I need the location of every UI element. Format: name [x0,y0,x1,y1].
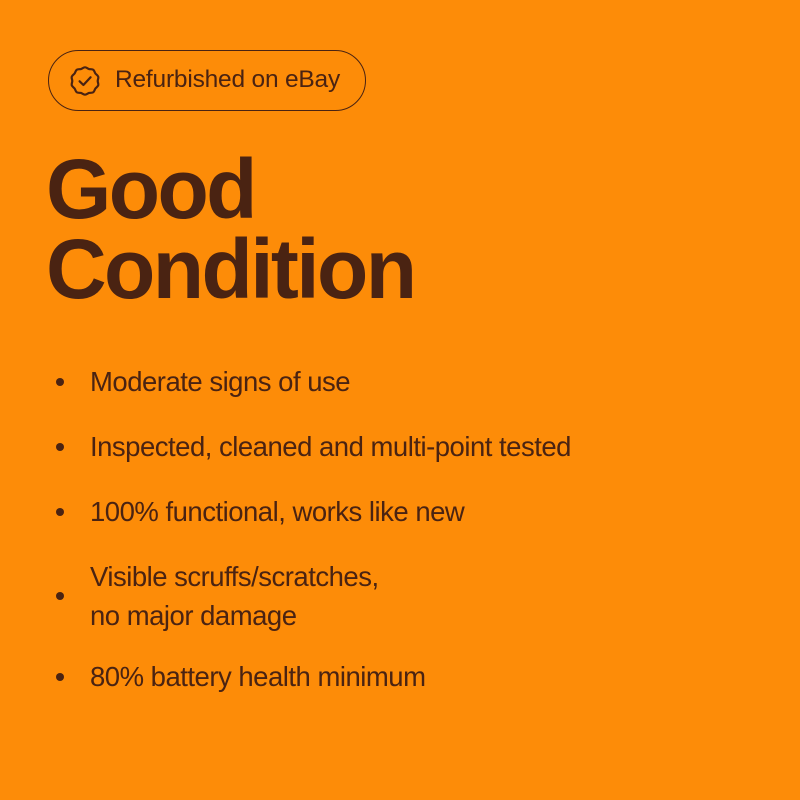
verified-seal-check-icon [69,65,101,97]
list-item: Moderate signs of use [56,362,756,401]
bullet-dot-icon [56,508,64,516]
feature-text: 100% functional, works like new [90,492,464,531]
list-item: 80% battery health minimum [56,657,756,696]
page-title: Good Condition [46,150,414,310]
bullet-dot-icon [56,443,64,451]
feature-text: Visible scruffs/scratches, no major dama… [90,557,379,635]
bullet-dot-icon [56,592,64,600]
refurbished-condition-card: Refurbished on eBay Good Condition Moder… [0,0,800,800]
bullet-dot-icon [56,378,64,386]
list-item: 100% functional, works like new [56,492,756,531]
feature-text: Inspected, cleaned and multi-point teste… [90,427,571,466]
list-item: Inspected, cleaned and multi-point teste… [56,427,756,466]
feature-text: Moderate signs of use [90,362,350,401]
condition-feature-list: Moderate signs of use Inspected, cleaned… [56,362,756,696]
refurbished-badge-label: Refurbished on eBay [115,68,340,93]
refurbished-badge: Refurbished on eBay [48,50,366,111]
list-item: Visible scruffs/scratches, no major dama… [56,557,756,635]
feature-text: 80% battery health minimum [90,657,426,696]
bullet-dot-icon [56,673,64,681]
